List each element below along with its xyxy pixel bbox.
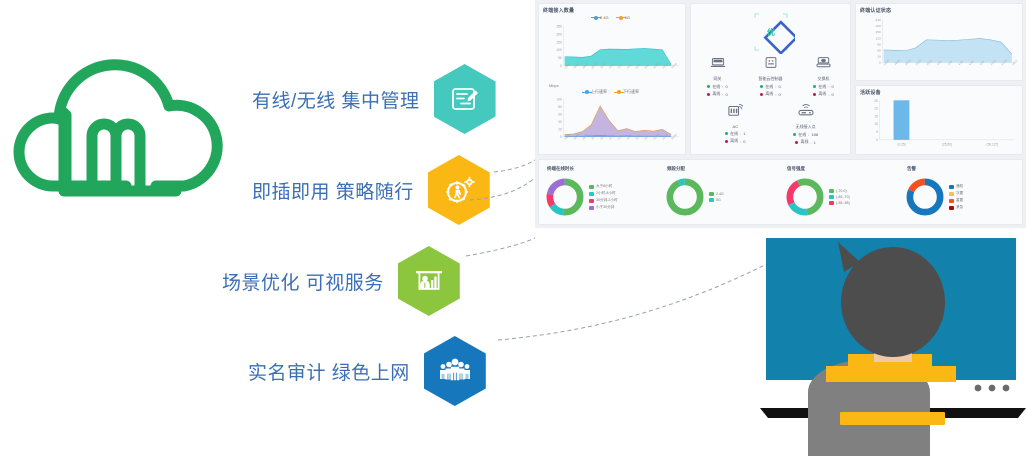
device-name: 交换机: [798, 76, 850, 82]
svg-text:(25,50]: (25,50]: [942, 143, 952, 147]
legend-item: 下行速率: [617, 89, 639, 95]
device-status-card: 优 网关 在线: 0: [690, 3, 851, 155]
svg-text:0: 0: [560, 64, 562, 68]
svg-text:90: 90: [877, 42, 881, 46]
document-pen-icon: [434, 64, 496, 134]
terminal-access-card: 终端接入数量 2.4G 5G 050 100150: [538, 3, 686, 155]
offline-label: 离线: [765, 91, 773, 97]
svg-text:20: 20: [874, 106, 878, 110]
svg-text:80: 80: [558, 105, 562, 109]
donut-legend: 通知 次要 重要 紧急: [949, 184, 963, 210]
online-count: 0: [831, 84, 833, 89]
feature-label-4: 实名审计 绿色上网: [248, 358, 410, 385]
feature-row-1[interactable]: 有线/无线 集中管理: [252, 64, 496, 134]
legend-item: 2.4G: [594, 15, 609, 20]
device-offline: 离线: 1: [780, 139, 832, 145]
online-label: 在线: [818, 84, 826, 90]
device-online: 在线: 188: [780, 132, 832, 138]
donut-row-card: 终端在线时长 大于8小时 2小时-8小时 30分钟-2小时 小于30分钟: [538, 159, 1023, 225]
online-count: 0: [725, 84, 727, 89]
health-diamond-icon: 优: [747, 10, 795, 54]
legend-item: 上行速率: [585, 89, 607, 95]
svg-text:10: 10: [874, 122, 878, 126]
device-wireless-ap[interactable]: 无线接入点 在线: 188 离线: 1: [780, 103, 832, 145]
device-cloud-controller[interactable]: 智能云控制器 在线: 0 离线: 0: [745, 56, 797, 97]
legend-item: 次要: [949, 191, 963, 196]
svg-text:(0,25]: (0,25]: [897, 143, 905, 147]
feature-row-4[interactable]: 实名审计 绿色上网: [248, 336, 486, 406]
legend-label: (-85,-70): [836, 195, 850, 199]
device-offline: 离线: 0: [709, 138, 761, 144]
people-group-icon: [424, 336, 486, 406]
svg-text:0: 0: [560, 135, 562, 139]
svg-text:25: 25: [874, 99, 878, 103]
online-count: 1: [743, 131, 745, 136]
legend-label: 重要: [956, 198, 963, 203]
active-devices-card: 活跃设备 05 1015 2025 (0,25] (25,50] (50,127…: [855, 85, 1023, 155]
presentation-chart-icon: [398, 246, 460, 316]
device-grid: 网关 在线: 0 离线: 0: [691, 56, 850, 151]
legend-label: (-95,-85): [836, 201, 850, 205]
svg-text:100: 100: [556, 98, 561, 102]
device-online: 在线: 0: [692, 84, 744, 90]
feature-label-2: 即插即用 策略随行: [252, 177, 414, 204]
legend-swatch: [619, 16, 623, 20]
device-online: 在线: 0: [798, 84, 850, 90]
dashboard-panel: 终端接入数量 2.4G 5G 050 100150: [535, 0, 1026, 228]
offline-count: 1: [814, 140, 816, 145]
online-label: 在线: [730, 131, 738, 137]
legend-label: 次要: [956, 191, 963, 196]
svg-text:60: 60: [558, 113, 562, 117]
rate-chart: 020 4060 80100 14:00 16:00 18:00 20:00 2…: [539, 95, 685, 153]
online-count: 0: [778, 84, 780, 89]
feature-hex-3[interactable]: [398, 246, 460, 316]
svg-text:150: 150: [556, 40, 561, 44]
legend-label: 30分钟-2小时: [596, 198, 618, 203]
offline-label: 离线: [730, 138, 738, 144]
legend-label: 下行速率: [623, 89, 639, 95]
donut-legend: (-70,0) (-85,-70) (-95,-85): [829, 189, 850, 205]
svg-text:0: 0: [879, 61, 881, 65]
online-label: 在线: [765, 84, 773, 90]
donut-signal-strength: 信号强度 (-70,0) (-85,-70) (-95,-85): [781, 164, 899, 222]
active-devices-chart: 05 1015 2025 (0,25] (25,50] (50,127]: [856, 96, 1022, 154]
gateway-icon: [710, 56, 726, 69]
online-count: 188: [811, 132, 818, 137]
legend-label: 2小时-8小时: [596, 191, 616, 196]
legend-item: 2小时-8小时: [589, 191, 618, 196]
svg-text:120: 120: [876, 36, 881, 40]
auth-status-title: 终端认证状态: [856, 4, 1022, 14]
device-row-1: 网关 在线: 0 离线: 0: [691, 56, 850, 97]
legend-item: (-85,-70): [829, 195, 850, 199]
rate-unit-label: Mbps: [539, 83, 685, 88]
legend-item: 重要: [949, 198, 963, 203]
svg-text:60: 60: [877, 49, 881, 53]
legend-label: 紧急: [956, 205, 963, 210]
legend-item: 大于8小时: [589, 184, 618, 189]
svg-text:(50,127]: (50,127]: [987, 143, 999, 147]
svg-text:100: 100: [556, 48, 561, 52]
person-at-monitor-illustration: [766, 236, 974, 457]
svg-text:15: 15: [874, 114, 878, 118]
online-label: 在线: [798, 132, 806, 138]
svg-text:150: 150: [876, 30, 881, 34]
device-offline: 离线: 0: [745, 91, 797, 97]
device-ac[interactable]: AC 在线: 1 离线: 0: [709, 103, 761, 145]
offline-count: 0: [725, 92, 727, 97]
feature-row-2[interactable]: 即插即用 策略随行: [252, 155, 490, 225]
svg-text:20: 20: [558, 128, 562, 132]
auth-status-chart: 030 6090 120150 180210 14:00 16:00 18:00…: [856, 14, 1022, 82]
svg-text:50: 50: [558, 56, 562, 60]
svg-text:14:00: 14:00: [670, 61, 678, 69]
active-devices-title: 活跃设备: [856, 86, 1022, 96]
device-name: 智能云控制器: [745, 76, 797, 82]
svg-text:210: 210: [876, 18, 881, 22]
offline-label: 离线: [800, 139, 808, 145]
legend-swatch: [585, 90, 589, 94]
legend-label: 2.4G: [600, 15, 609, 20]
device-switch[interactable]: 交换机 在线: 0 离线: 0: [798, 56, 850, 97]
auth-status-card: 终端认证状态 030 6090 120150 180210 14:00 16:0…: [855, 3, 1023, 81]
legend-label: 通知: [956, 184, 963, 189]
infographic-canvas: 有线/无线 集中管理 即插即用 策略随行: [0, 0, 1026, 457]
feature-label-3: 场景优化 可视服务: [222, 268, 384, 295]
donut-legend: 大于8小时 2小时-8小时 30分钟-2小时 小于30分钟: [589, 184, 618, 210]
svg-text:0: 0: [876, 138, 878, 142]
offline-count: 0: [831, 92, 833, 97]
person-gear-icon: [428, 155, 490, 225]
terminal-access-title: 终端接入数量: [539, 4, 685, 14]
legend-item: (-95,-85): [829, 201, 850, 205]
cloud-logo: [6, 28, 246, 213]
device-offline: 离线: 0: [692, 91, 744, 97]
device-name: 无线接入点: [780, 124, 832, 130]
legend-item: 30分钟-2小时: [589, 198, 618, 203]
svg-text:14:00: 14:00: [670, 132, 678, 140]
legend-item: 2.4G: [709, 192, 724, 196]
device-online: 在线: 0: [745, 84, 797, 90]
svg-text:200: 200: [556, 32, 561, 36]
device-row-2: AC 在线: 1 离线: 0: [691, 103, 850, 145]
ac-icon: [727, 103, 743, 117]
offline-count: 0: [743, 139, 745, 144]
offline-label: 离线: [818, 91, 826, 97]
offline-label: 离线: [712, 91, 720, 97]
svg-text:250: 250: [556, 25, 561, 29]
switch-icon: [816, 56, 831, 69]
device-gateway[interactable]: 网关 在线: 0 离线: 0: [692, 56, 744, 97]
device-online: 在线: 1: [709, 131, 761, 137]
status-dots: [975, 385, 1010, 392]
legend-label: (-70,0): [836, 189, 847, 193]
legend-item: 5G: [619, 15, 630, 20]
device-name: 网关: [692, 76, 744, 82]
offline-count: 0: [778, 92, 780, 97]
donut-chart: [545, 177, 585, 217]
legend-item: 通知: [949, 184, 963, 189]
donut-online-duration: 终端在线时长 大于8小时 2小时-8小时 30分钟-2小时 小于30分钟: [541, 164, 659, 222]
chair-accent: [840, 412, 945, 425]
svg-text:30: 30: [877, 55, 881, 59]
svg-text:40: 40: [558, 120, 562, 124]
online-label: 在线: [712, 84, 720, 90]
feature-label-1: 有线/无线 集中管理: [252, 86, 420, 113]
donut-legend: 2.4G 5G: [709, 192, 724, 202]
legend-swatch: [617, 90, 621, 94]
legend-label: 上行速率: [591, 89, 607, 95]
feature-hex-4[interactable]: [424, 336, 486, 406]
svg-text:180: 180: [876, 24, 881, 28]
donut-chart: [665, 177, 705, 217]
legend-item: 5G: [709, 198, 724, 202]
donut-chart: [785, 177, 825, 217]
legend-label: 2.4G: [716, 192, 724, 196]
legend-item: (-70,0): [829, 189, 850, 193]
device-offline: 离线: 0: [798, 91, 850, 97]
legend-label: 小于30分钟: [596, 205, 614, 210]
health-score: 优: [691, 4, 850, 54]
svg-text:5: 5: [876, 130, 878, 134]
legend-swatch: [594, 16, 598, 20]
donut-alarms: 告警 通知 次要 重要 紧急: [901, 164, 1021, 222]
terminal-access-chart: 050 100150 200250 14:00 16:00 18:00 20:0…: [539, 20, 685, 82]
cloud-controller-icon: [764, 56, 778, 69]
donut-band-allocation: 频段分配 2.4G 5G: [661, 164, 779, 222]
donut-chart: [905, 177, 945, 217]
device-name: AC: [709, 124, 761, 129]
legend-label: 大于8小时: [596, 184, 612, 189]
legend-item: 紧急: [949, 205, 963, 210]
health-score-label: 优: [767, 27, 775, 37]
feature-hex-2[interactable]: [428, 155, 490, 225]
feature-row-3[interactable]: 场景优化 可视服务: [222, 246, 460, 316]
svg-text:14:00: 14:00: [1011, 58, 1019, 66]
legend-item: 小于30分钟: [589, 205, 618, 210]
legend-label: 5G: [716, 198, 721, 202]
feature-hex-1[interactable]: [434, 64, 496, 134]
wireless-ap-icon: [797, 103, 815, 117]
